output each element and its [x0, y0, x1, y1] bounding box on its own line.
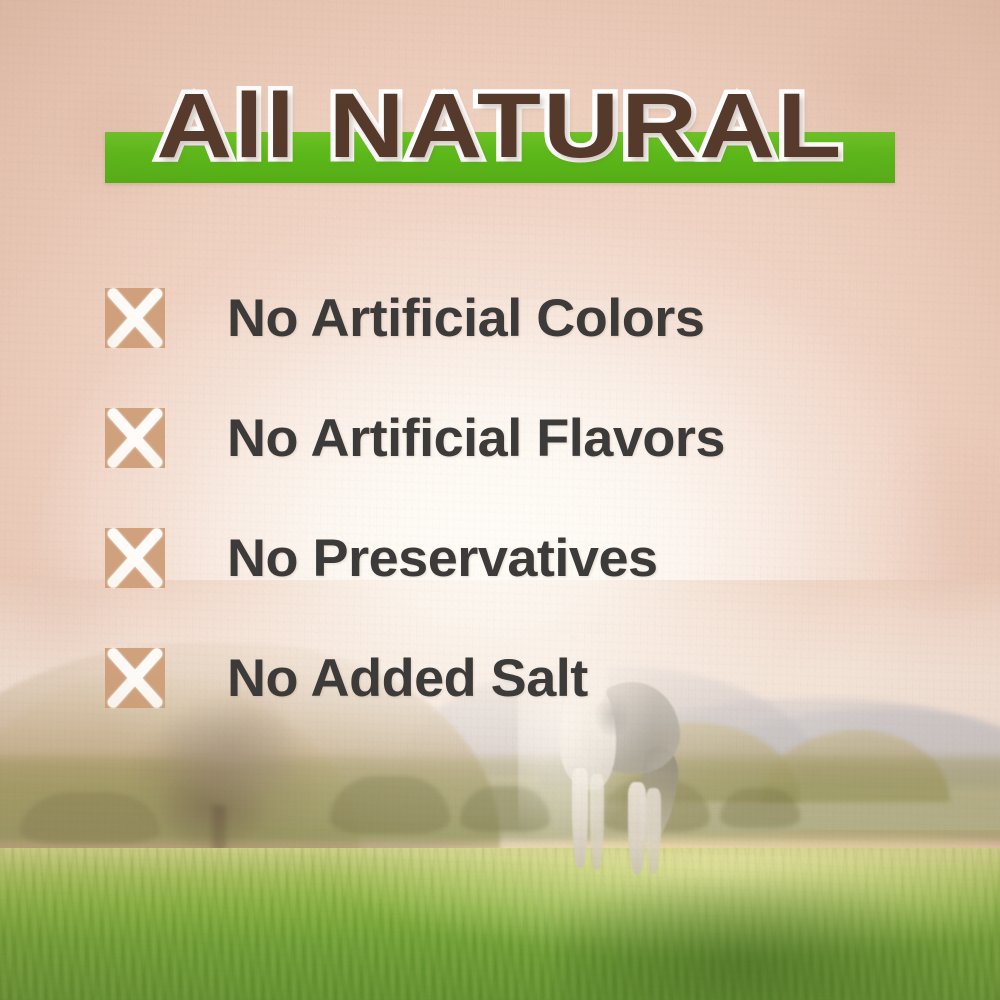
x-mark-icon: [105, 648, 165, 708]
feature-label: No Artificial Flavors: [227, 408, 725, 469]
feature-label: No Preservatives: [227, 528, 658, 589]
feature-label: No Added Salt: [227, 648, 588, 709]
x-mark-icon: [105, 288, 165, 348]
list-item: No Preservatives: [105, 498, 965, 618]
list-item: No Artificial Colors: [105, 258, 965, 378]
page-title: All NATURAL: [0, 70, 1000, 182]
list-item: No Artificial Flavors: [105, 378, 965, 498]
x-mark-icon: [105, 528, 165, 588]
product-feature-panel: All NATURAL No Artificial Colors No Arti…: [0, 0, 1000, 1000]
feature-label: No Artificial Colors: [227, 288, 704, 349]
x-mark-icon: [105, 408, 165, 468]
title-banner: All NATURAL: [0, 70, 1000, 200]
feature-list: No Artificial Colors No Artificial Flavo…: [105, 258, 965, 738]
list-item: No Added Salt: [105, 618, 965, 738]
